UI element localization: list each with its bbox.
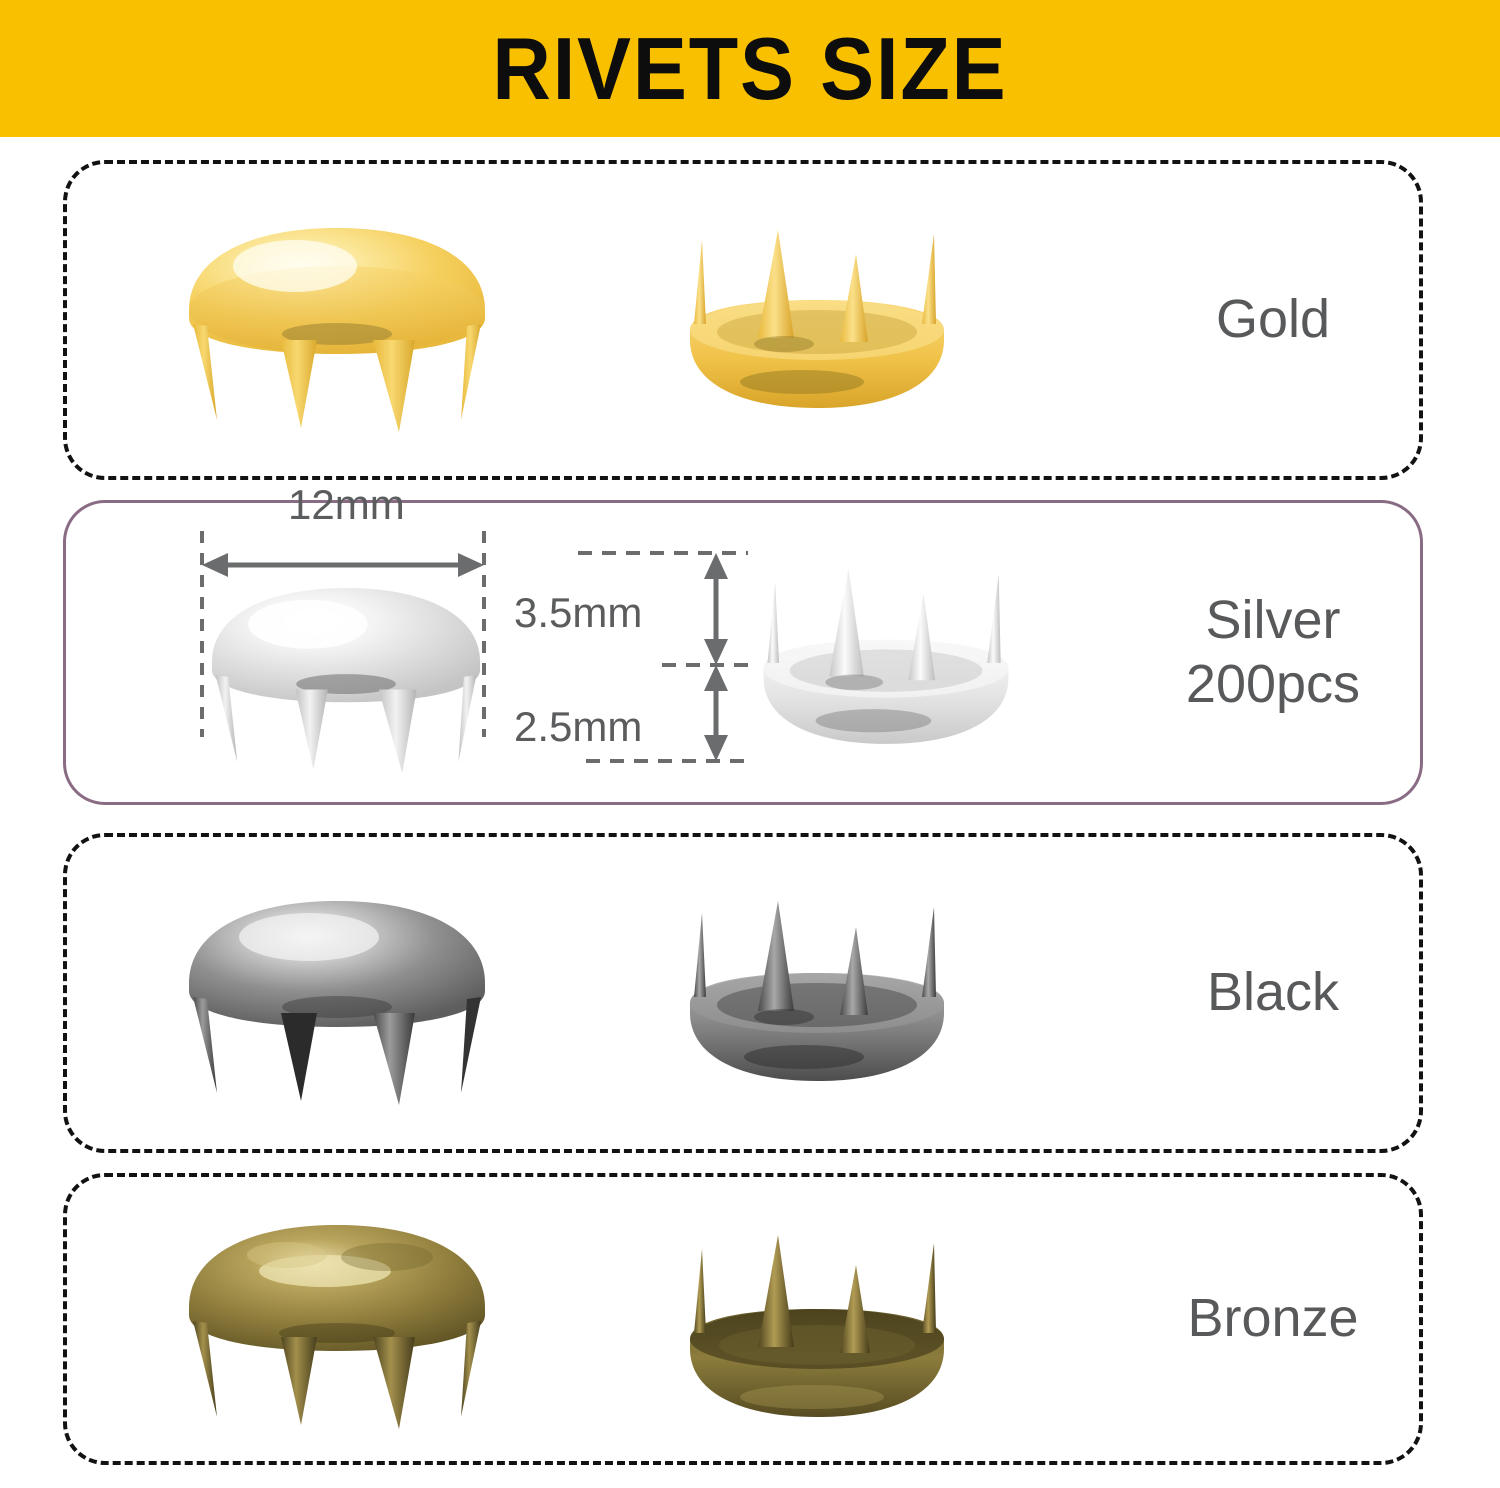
rivet-row-silver[interactable]: 12mm <box>63 500 1423 805</box>
rivet-crown-view-icon <box>672 885 962 1105</box>
rivet-side-view-icon <box>177 214 497 434</box>
bronze-crown-view-cell <box>627 1177 1127 1461</box>
gold-label-cell: Gold <box>1127 164 1419 476</box>
gold-side-view-cell <box>67 164 627 476</box>
rivets-size-infographic: RIVETS SIZE <box>0 0 1500 1488</box>
rivet-color-label: Gold <box>1216 288 1330 352</box>
black-side-view-cell <box>67 837 627 1149</box>
rivet-side-view-icon <box>201 575 491 775</box>
bronze-side-view-cell <box>67 1177 627 1461</box>
rivet-color-label: Black <box>1207 961 1339 1025</box>
header-banner: RIVETS SIZE <box>0 0 1500 137</box>
silver-crown-view-cell: 3.5mm 2.5mm <box>626 503 1126 802</box>
black-crown-view-cell <box>627 837 1127 1149</box>
rivet-crown-view-icon <box>672 1221 962 1441</box>
rivet-row-gold[interactable]: Gold <box>63 160 1423 480</box>
rivet-crown-view-icon <box>672 212 962 432</box>
rivet-row-bronze[interactable]: Bronze <box>63 1173 1423 1465</box>
prong-height-dimension-label: 3.5mm <box>514 589 642 637</box>
black-label-cell: Black <box>1127 837 1419 1149</box>
rivet-color-label: Silver 200pcs <box>1186 589 1360 716</box>
silver-label-cell: Silver 200pcs <box>1126 503 1420 802</box>
rivet-side-view-icon <box>177 887 497 1107</box>
page-title: RIVETS SIZE <box>492 25 1007 113</box>
rivet-row-black[interactable]: Black <box>63 833 1423 1153</box>
rivet-side-view-icon <box>177 1211 497 1431</box>
rivet-color-label: Bronze <box>1187 1287 1358 1351</box>
rivet-crown-view-icon <box>746 555 1026 767</box>
base-height-dimension-label: 2.5mm <box>514 703 642 751</box>
width-dimension-label: 12mm <box>288 481 405 529</box>
gold-crown-view-cell <box>627 164 1127 476</box>
silver-side-view-cell: 12mm <box>66 503 626 802</box>
bronze-label-cell: Bronze <box>1127 1177 1419 1461</box>
